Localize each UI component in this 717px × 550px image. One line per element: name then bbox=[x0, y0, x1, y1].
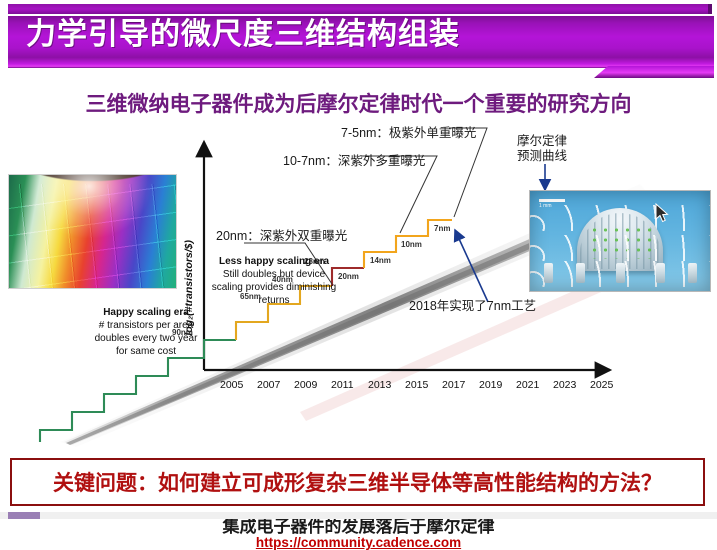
banner-notch-decoration bbox=[594, 66, 714, 78]
wafer-sheen bbox=[9, 175, 176, 288]
era-less-happy-scaling: Less happy scaling era Still doubles but… bbox=[178, 255, 370, 307]
footer-accent-block bbox=[8, 512, 40, 519]
structure-vignette bbox=[530, 191, 710, 291]
era-less-happy-line-2: scaling provides diminishing bbox=[178, 281, 370, 294]
era-happy-line-3: for same cost bbox=[82, 345, 210, 358]
node-label-14nm: 14nm bbox=[370, 256, 391, 265]
node-label-7nm: 7nm bbox=[434, 224, 450, 233]
x-tick-2017: 2017 bbox=[442, 379, 465, 391]
banner-accent-strip bbox=[8, 4, 708, 14]
era-happy-line-1: # transistors per area bbox=[82, 319, 210, 332]
x-tick-2009: 2009 bbox=[294, 379, 317, 391]
era-less-happy-line-1: Still doubles but device bbox=[178, 268, 370, 281]
title-banner: 力学引导的微尺度三维结构组装 bbox=[0, 0, 717, 80]
x-tick-2007: 2007 bbox=[257, 379, 280, 391]
x-tick-2005: 2005 bbox=[220, 379, 243, 391]
era-happy-title: Happy scaling era bbox=[82, 306, 210, 319]
chart-source-url[interactable]: https://community.cadence.com bbox=[0, 535, 717, 550]
x-tick-2023: 2023 bbox=[553, 379, 576, 391]
footer-strip bbox=[0, 512, 717, 519]
x-tick-2015: 2015 bbox=[405, 379, 428, 391]
mouse-cursor-icon bbox=[655, 203, 669, 223]
moore-law-chart: log₂(#transistors/$) 20nm：深紫外双重曝光 10-7nm… bbox=[0, 112, 717, 447]
key-question-box: 关键问题：如何建立可成形复杂三维半导体等高性能结构的方法？ bbox=[10, 458, 705, 506]
node-label-10nm: 10nm bbox=[401, 240, 422, 249]
annotation-litho-7-5nm: 7-5nm：极紫外单重曝光 bbox=[341, 122, 476, 141]
silicon-wafer-photo bbox=[8, 174, 177, 289]
x-tick-2013: 2013 bbox=[368, 379, 391, 391]
x-tick-2021: 2021 bbox=[516, 379, 539, 391]
x-tick-2011: 2011 bbox=[331, 379, 354, 391]
annotation-moore-curve: 摩尔定律 预测曲线 bbox=[517, 134, 567, 164]
annotation-moore-curve-line2: 预测曲线 bbox=[517, 149, 567, 164]
era-happy-line-2: doubles every two year bbox=[82, 332, 210, 345]
era-less-happy-line-3: returns bbox=[178, 294, 370, 307]
era-happy-scaling: Happy scaling era # transistors per area… bbox=[82, 306, 210, 358]
annotation-litho-20nm: 20nm：深紫外双重曝光 bbox=[216, 225, 347, 244]
x-tick-2025: 2025 bbox=[590, 379, 613, 391]
annotation-litho-10-7nm: 10-7nm：深紫外多重曝光 bbox=[283, 150, 425, 169]
annotation-achieved-2018: 2018年实现了7nm工艺 bbox=[409, 295, 536, 314]
page-title: 力学引导的微尺度三维结构组装 bbox=[26, 17, 460, 53]
x-tick-2019: 2019 bbox=[479, 379, 502, 391]
3d-microstructure-photo: 1 mm bbox=[529, 190, 711, 292]
key-question-text: 关键问题：如何建立可成形复杂三维半导体等高性能结构的方法？ bbox=[53, 467, 662, 497]
era-less-happy-title: Less happy scaling era bbox=[178, 255, 370, 268]
annotation-moore-curve-line1: 摩尔定律 bbox=[517, 134, 567, 149]
